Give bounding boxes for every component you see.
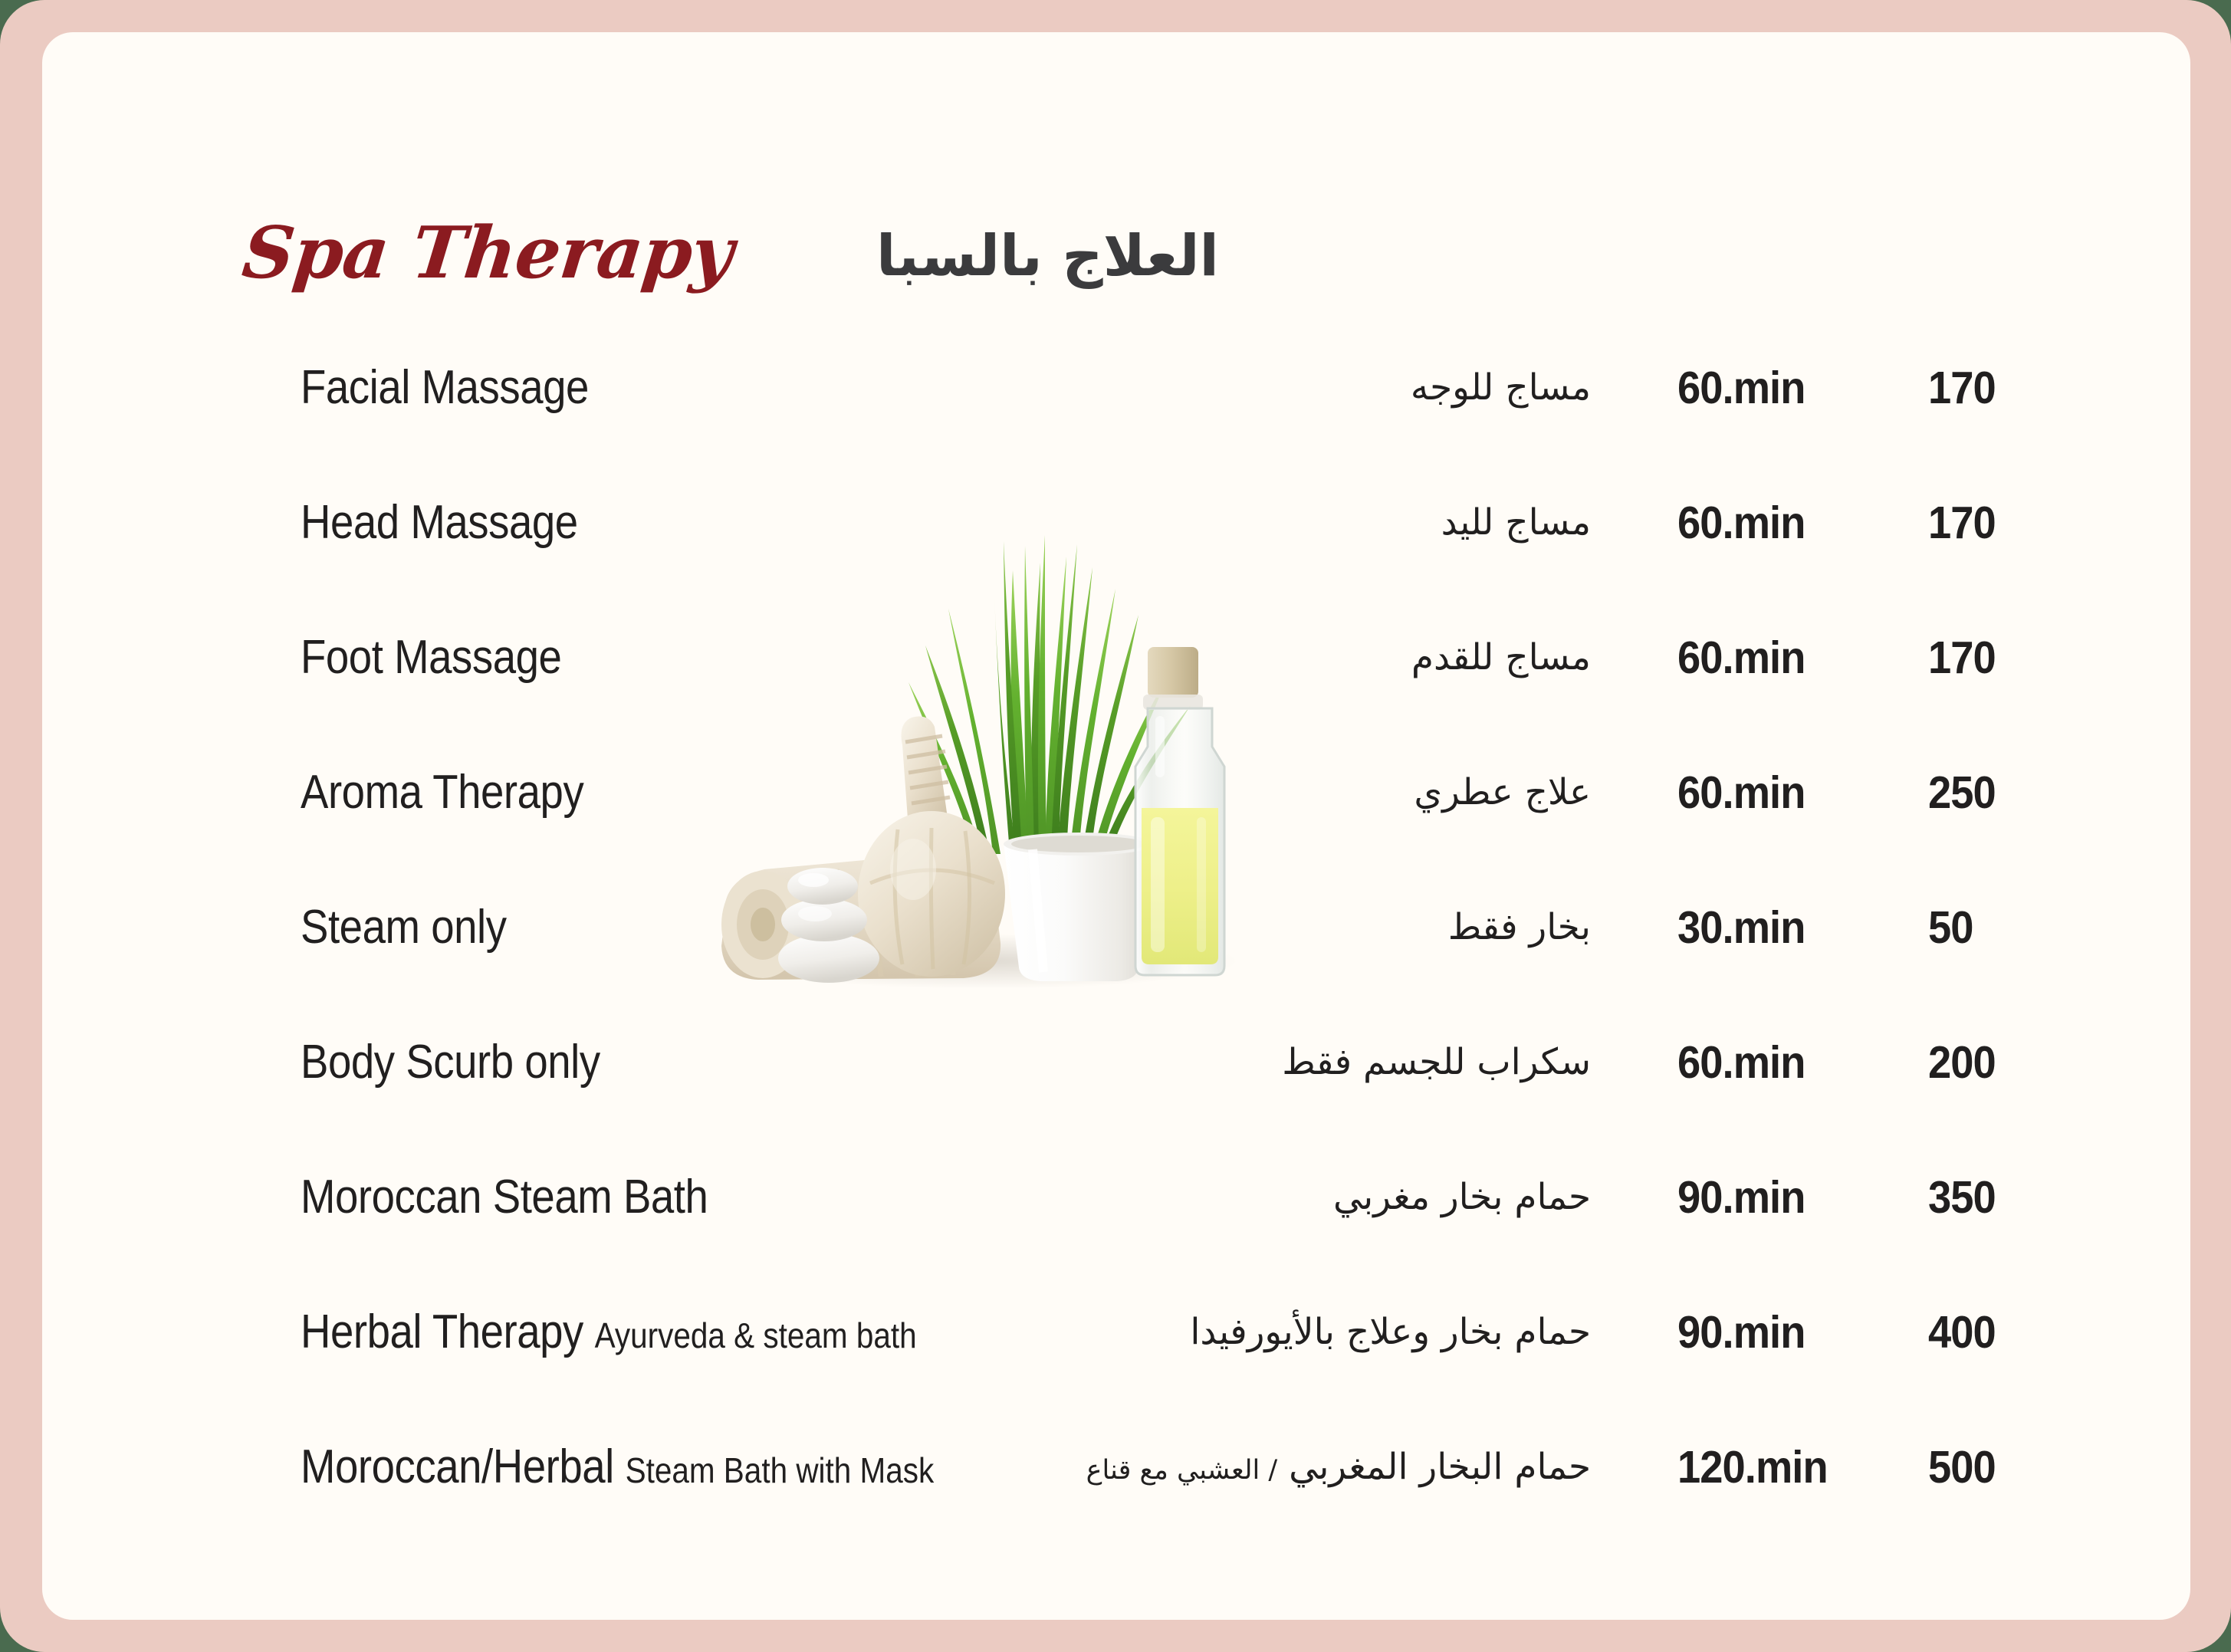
service-price: 170 bbox=[1928, 624, 1996, 691]
service-price: 400 bbox=[1928, 1299, 1996, 1366]
service-price: 500 bbox=[1928, 1434, 1996, 1501]
service-name-en: Facial Massage bbox=[301, 354, 589, 422]
page-title-english: Spa Therapy bbox=[238, 207, 738, 299]
menu-row[interactable]: Aroma Therapy علاج عطري 60.min 250 bbox=[42, 759, 2190, 826]
service-duration: 30.min bbox=[1677, 894, 1805, 961]
service-name-en: Body Scurb only bbox=[301, 1029, 600, 1096]
service-name-ar: سكراب للجسم فقط bbox=[962, 1029, 1591, 1096]
service-name-en: Moroccan Steam Bath bbox=[301, 1164, 708, 1231]
menu-rows: Facial Massage مساج للوجه 60.min 170 Hea… bbox=[42, 354, 2190, 1501]
service-name-ar: بخار فقط bbox=[962, 894, 1591, 961]
service-name-ar: مساج للوجه bbox=[962, 354, 1591, 422]
service-duration: 60.min bbox=[1677, 489, 1805, 557]
service-price: 200 bbox=[1928, 1029, 1996, 1096]
service-duration: 90.min bbox=[1677, 1299, 1805, 1366]
service-name-ar-subtitle: / العشبي مع قناع bbox=[1086, 1455, 1278, 1486]
service-duration: 90.min bbox=[1677, 1164, 1805, 1231]
menu-row[interactable]: Steam only بخار فقط 30.min 50 bbox=[42, 894, 2190, 961]
service-name-ar: مساج لليد bbox=[962, 489, 1591, 557]
service-duration: 60.min bbox=[1677, 1029, 1805, 1096]
service-name-ar: حمام البخار المغربي / العشبي مع قناع bbox=[962, 1434, 1591, 1501]
service-price: 250 bbox=[1928, 759, 1996, 826]
service-name-en: Foot Massage bbox=[301, 624, 561, 691]
service-name-en: Moroccan/Herbal Steam Bath with Mask bbox=[301, 1434, 934, 1501]
service-price: 50 bbox=[1928, 894, 1973, 961]
menu-row[interactable]: Herbal Therapy Ayurveda & steam bath حما… bbox=[42, 1299, 2190, 1366]
service-name-en-subtitle: Steam Bath with Mask bbox=[626, 1450, 935, 1490]
service-name-en: Herbal Therapy Ayurveda & steam bath bbox=[301, 1299, 917, 1366]
menu-row[interactable]: Foot Massage مساج للقدم 60.min 170 bbox=[42, 624, 2190, 691]
menu-card: Spa Therapy العلاج بالسبا bbox=[42, 32, 2190, 1620]
service-duration: 60.min bbox=[1677, 354, 1805, 422]
menu-row[interactable]: Moroccan/Herbal Steam Bath with Mask حما… bbox=[42, 1434, 2190, 1501]
menu-row[interactable]: Head Massage مساج لليد 60.min 170 bbox=[42, 489, 2190, 557]
menu-outer-frame: Spa Therapy العلاج بالسبا bbox=[0, 0, 2231, 1652]
service-name-ar: حمام بخار مغربي bbox=[962, 1164, 1591, 1231]
service-name-ar: حمام بخار وعلاج بالأيورفيدا bbox=[962, 1299, 1591, 1366]
menu-row[interactable]: Moroccan Steam Bath حمام بخار مغربي 90.m… bbox=[42, 1164, 2190, 1231]
page-title-arabic: العلاج بالسبا bbox=[876, 218, 1219, 294]
service-name-en: Head Massage bbox=[301, 489, 578, 557]
service-name-ar: مساج للقدم bbox=[962, 624, 1591, 691]
service-name-ar: علاج عطري bbox=[962, 759, 1591, 826]
menu-row[interactable]: Body Scurb only سكراب للجسم فقط 60.min 2… bbox=[42, 1029, 2190, 1096]
service-duration: 60.min bbox=[1677, 759, 1805, 826]
service-name-en: Aroma Therapy bbox=[301, 759, 583, 826]
menu-header: Spa Therapy العلاج بالسبا bbox=[42, 207, 2190, 307]
menu-row[interactable]: Facial Massage مساج للوجه 60.min 170 bbox=[42, 354, 2190, 422]
service-name-en: Steam only bbox=[301, 894, 507, 961]
service-duration: 120.min bbox=[1677, 1434, 1828, 1501]
service-price: 170 bbox=[1928, 354, 1996, 422]
service-name-en-subtitle: Ayurveda & steam bath bbox=[595, 1315, 917, 1355]
service-price: 350 bbox=[1928, 1164, 1996, 1231]
service-duration: 60.min bbox=[1677, 624, 1805, 691]
service-price: 170 bbox=[1928, 489, 1996, 557]
